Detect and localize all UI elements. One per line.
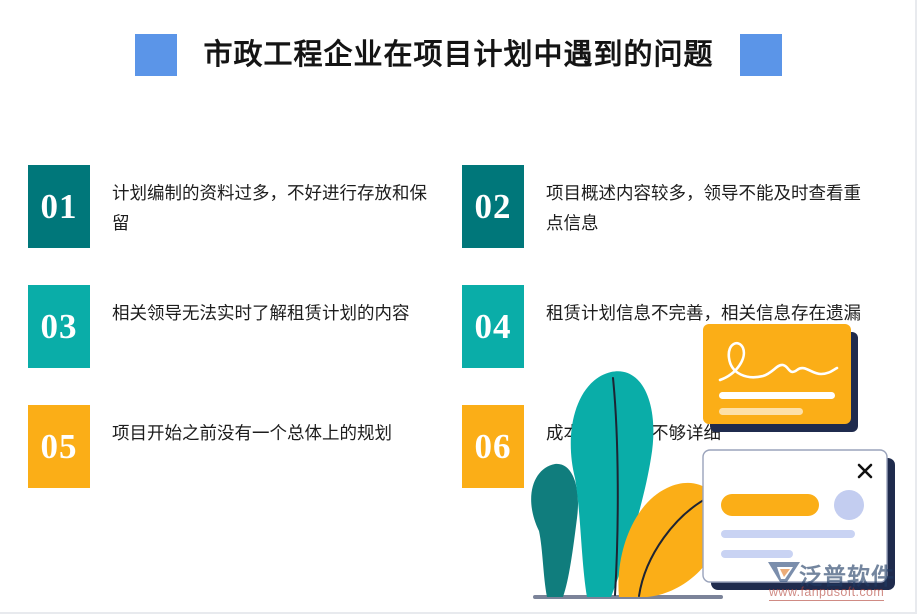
problem-row-1: 01 计划编制的资料过多，不好进行存放和保留 02 项目概述内容较多，领导不能及… <box>28 165 896 285</box>
list-item[interactable]: 01 计划编制的资料过多，不好进行存放和保留 <box>28 165 462 248</box>
item-text: 项目开始之前没有一个总体上的规划 <box>112 418 442 448</box>
watermark-url: www.fanpusoft.com <box>769 585 884 601</box>
item-number-badge: 01 <box>28 165 90 248</box>
list-item[interactable]: 04 租赁计划信息不完善，相关信息存在遗漏 <box>462 285 896 368</box>
page-title-row: 市政工程企业在项目计划中遇到的问题 <box>0 34 917 76</box>
title-decor-square-left <box>135 34 177 76</box>
slide-root: 市政工程企业在项目计划中遇到的问题 01 计划编制的资料过多，不好进行存放和保留… <box>0 0 917 614</box>
problem-row-3: 05 项目开始之前没有一个总体上的规划 06 成本计划内容不够详细 <box>28 405 896 525</box>
title-decor-square-right <box>740 34 782 76</box>
list-item[interactable]: 05 项目开始之前没有一个总体上的规划 <box>28 405 462 488</box>
item-number-badge: 05 <box>28 405 90 488</box>
problem-list-grid: 01 计划编制的资料过多，不好进行存放和保留 02 项目概述内容较多，领导不能及… <box>28 165 896 525</box>
list-item[interactable]: 06 成本计划内容不够详细 <box>462 405 896 488</box>
brand-logo-icon <box>767 558 801 584</box>
ground-line <box>533 595 723 599</box>
list-item[interactable]: 03 相关领导无法实时了解租赁计划的内容 <box>28 285 462 368</box>
item-text: 租赁计划信息不完善，相关信息存在遗漏 <box>546 298 876 328</box>
item-text: 相关领导无法实时了解租赁计划的内容 <box>112 298 442 328</box>
watermark: 泛普软件 www.fanpusoft.com <box>767 556 909 604</box>
item-text: 计划编制的资料过多，不好进行存放和保留 <box>112 178 442 238</box>
item-text: 项目概述内容较多，领导不能及时查看重点信息 <box>546 178 876 238</box>
problem-row-2: 03 相关领导无法实时了解租赁计划的内容 04 租赁计划信息不完善，相关信息存在… <box>28 285 896 405</box>
item-number-badge: 03 <box>28 285 90 368</box>
page-title: 市政工程企业在项目计划中遇到的问题 <box>203 34 713 76</box>
list-item[interactable]: 02 项目概述内容较多，领导不能及时查看重点信息 <box>462 165 896 248</box>
item-number-badge: 06 <box>462 405 524 488</box>
item-number-badge: 02 <box>462 165 524 248</box>
item-text: 成本计划内容不够详细 <box>546 418 876 448</box>
item-number-badge: 04 <box>462 285 524 368</box>
